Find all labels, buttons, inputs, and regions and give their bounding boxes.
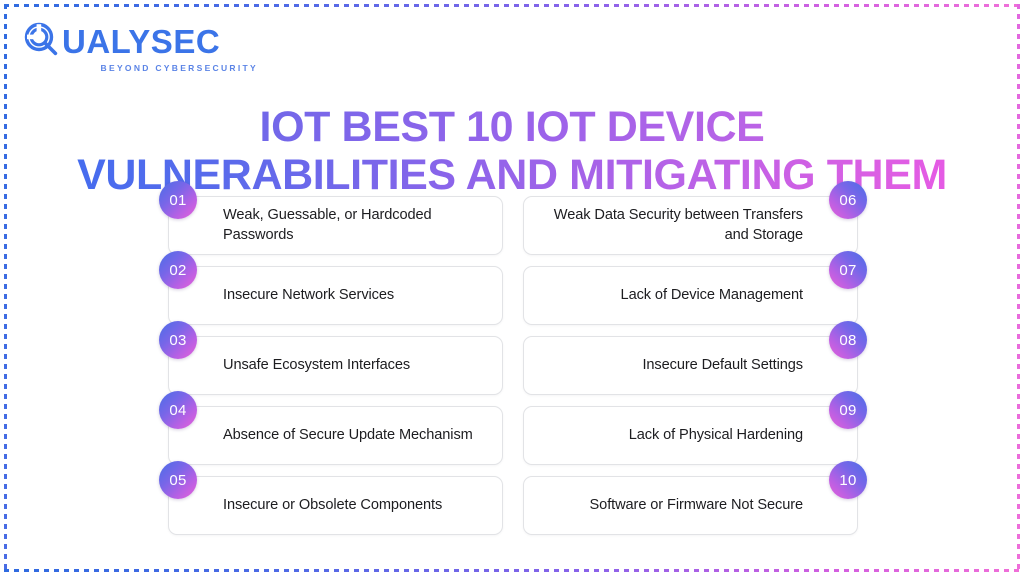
- card-column-right: 06 Weak Data Security between Transfers …: [523, 196, 858, 535]
- card-number-badge: 08: [829, 321, 867, 359]
- card-number-badge: 02: [159, 251, 197, 289]
- card-number-badge: 07: [829, 251, 867, 289]
- vulnerability-card-grid: 01 Weak, Guessable, or Hardcoded Passwor…: [168, 196, 858, 535]
- dashed-border-right: [1017, 4, 1020, 572]
- page-title-line-2: Vulnerabilities and Mitigating Them: [0, 151, 1024, 200]
- dashed-border-top: [4, 4, 1020, 7]
- card-label: Software or Firmware Not Secure: [576, 496, 857, 515]
- card-number-badge: 03: [159, 321, 197, 359]
- card-label: Unsafe Ecosystem Interfaces: [169, 356, 424, 375]
- card-label: Insecure or Obsolete Components: [169, 496, 456, 515]
- card-label: Insecure Default Settings: [628, 356, 857, 375]
- logo-wordmark: UALYSEC: [22, 22, 262, 60]
- vulnerability-card[interactable]: 10 Software or Firmware Not Secure: [523, 476, 858, 535]
- card-label: Weak, Guessable, or Hardcoded Passwords: [169, 206, 502, 245]
- card-number-badge: 06: [829, 181, 867, 219]
- vulnerability-card[interactable]: 04 Absence of Secure Update Mechanism: [168, 406, 503, 465]
- card-number-badge: 01: [159, 181, 197, 219]
- card-column-left: 01 Weak, Guessable, or Hardcoded Passwor…: [168, 196, 503, 535]
- vulnerability-card[interactable]: 06 Weak Data Security between Transfers …: [523, 196, 858, 255]
- dashed-border-left: [4, 4, 7, 572]
- vulnerability-card[interactable]: 05 Insecure or Obsolete Components: [168, 476, 503, 535]
- logo-text: UALYSEC: [62, 25, 220, 58]
- page-title-line-1: IoT Best 10 IoT Device: [0, 103, 1024, 152]
- card-number-badge: 09: [829, 391, 867, 429]
- vulnerability-card[interactable]: 01 Weak, Guessable, or Hardcoded Passwor…: [168, 196, 503, 255]
- dashed-border-bottom: [4, 569, 1020, 572]
- logo-tagline: BEYOND CYBERSECURITY: [22, 63, 262, 73]
- vulnerability-card[interactable]: 09 Lack of Physical Hardening: [523, 406, 858, 465]
- infographic-slide: UALYSEC BEYOND CYBERSECURITY IoT Best 10…: [0, 0, 1024, 576]
- vulnerability-card[interactable]: 08 Insecure Default Settings: [523, 336, 858, 395]
- vulnerability-card[interactable]: 03 Unsafe Ecosystem Interfaces: [168, 336, 503, 395]
- card-number-badge: 10: [829, 461, 867, 499]
- card-number-badge: 05: [159, 461, 197, 499]
- vulnerability-card[interactable]: 07 Lack of Device Management: [523, 266, 858, 325]
- magnifier-q-icon: [22, 20, 62, 63]
- card-label: Weak Data Security between Transfers and…: [524, 206, 857, 245]
- vulnerability-card[interactable]: 02 Insecure Network Services: [168, 266, 503, 325]
- brand-logo: UALYSEC BEYOND CYBERSECURITY: [22, 22, 262, 78]
- card-label: Lack of Physical Hardening: [615, 426, 857, 445]
- card-number-badge: 04: [159, 391, 197, 429]
- page-title: IoT Best 10 IoT Device Vulnerabilities a…: [0, 103, 1024, 200]
- card-label: Absence of Secure Update Mechanism: [169, 426, 487, 445]
- card-label: Insecure Network Services: [169, 286, 408, 305]
- card-label: Lack of Device Management: [607, 286, 857, 305]
